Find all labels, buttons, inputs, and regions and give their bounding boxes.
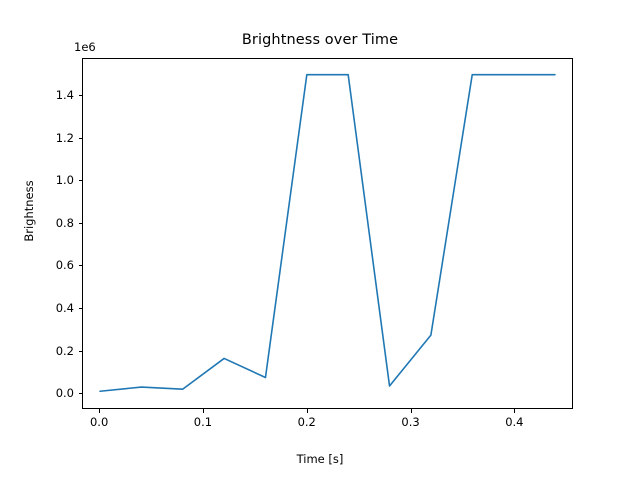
y-tick-label: 0.8 bbox=[32, 216, 74, 230]
y-axis-offset-text: 1e6 bbox=[74, 40, 96, 54]
y-tickmark bbox=[79, 265, 83, 266]
chart-title: Brightness over Time bbox=[0, 32, 640, 48]
plot-axes bbox=[82, 58, 573, 409]
y-tickmark bbox=[79, 138, 83, 139]
y-tick-label: 1.0 bbox=[32, 173, 74, 187]
x-tickmark bbox=[307, 409, 308, 413]
figure-canvas: Brightness over Time 1e6 0.00.10.20.30.4… bbox=[0, 0, 640, 480]
x-tickmark bbox=[411, 409, 412, 413]
y-tick-label: 1.4 bbox=[32, 88, 74, 102]
y-tickmark bbox=[79, 223, 83, 224]
y-tick-label: 0.0 bbox=[32, 386, 74, 400]
brightness-line-series bbox=[100, 75, 555, 392]
x-tickmark bbox=[203, 409, 204, 413]
x-tickmark bbox=[514, 409, 515, 413]
y-tickmark bbox=[79, 351, 83, 352]
x-tick-label: 0.1 bbox=[194, 415, 212, 429]
x-tickmark bbox=[99, 409, 100, 413]
x-tick-label: 0.4 bbox=[505, 415, 523, 429]
x-axis-label: Time [s] bbox=[0, 452, 640, 466]
y-tickmark bbox=[79, 180, 83, 181]
x-tick-label: 0.2 bbox=[298, 415, 316, 429]
y-tickmark bbox=[79, 393, 83, 394]
y-tick-label: 0.2 bbox=[32, 344, 74, 358]
x-tick-label: 0.0 bbox=[90, 415, 108, 429]
y-axis-label: Brightness bbox=[22, 166, 36, 256]
y-tick-label: 0.6 bbox=[32, 258, 74, 272]
y-tick-label: 0.4 bbox=[32, 301, 74, 315]
line-plot-svg bbox=[83, 59, 572, 408]
y-tickmark bbox=[79, 95, 83, 96]
x-tick-label: 0.3 bbox=[401, 415, 419, 429]
y-tick-label: 1.2 bbox=[32, 131, 74, 145]
y-tickmark bbox=[79, 308, 83, 309]
